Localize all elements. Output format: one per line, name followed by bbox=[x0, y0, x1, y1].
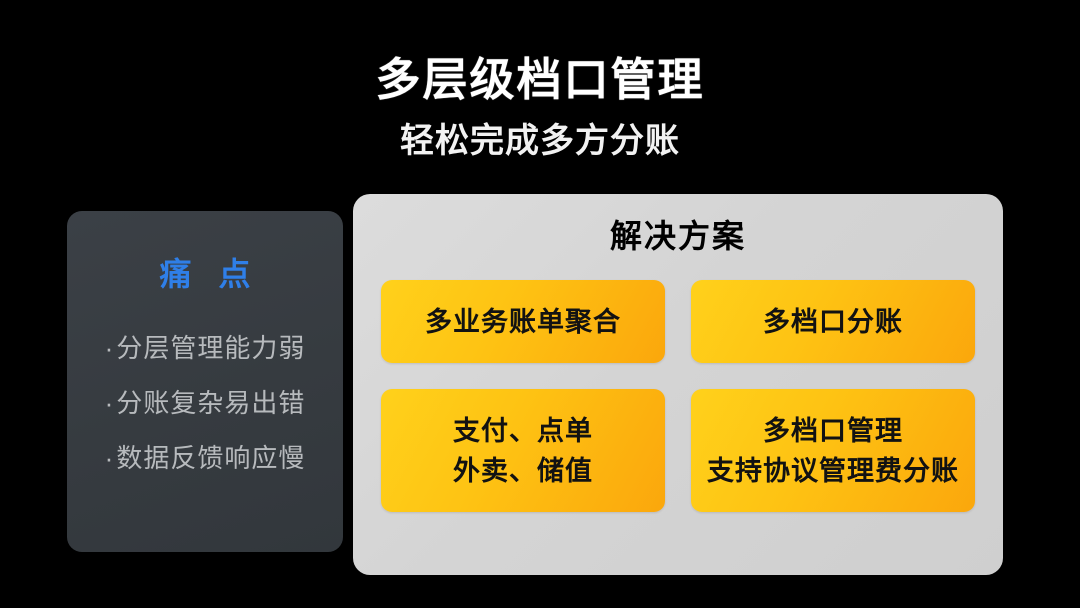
solution-card-label: 支付、点单 外卖、储值 bbox=[453, 411, 593, 491]
solution-card-multi-stall-split: 多档口分账 bbox=[691, 280, 975, 363]
pain-points-title: 痛 点 bbox=[77, 255, 333, 293]
list-item: ·数据反馈响应慢 bbox=[77, 443, 333, 473]
slide-header: 多层级档口管理 轻松完成多方分账 bbox=[0, 52, 1080, 162]
slide-root: 多层级档口管理 轻松完成多方分账 痛 点 ·分层管理能力弱 ·分账复杂易出错 ·… bbox=[0, 0, 1080, 608]
list-item-label: 分账复杂易出错 bbox=[116, 388, 305, 418]
list-item: ·分账复杂易出错 bbox=[77, 388, 333, 418]
solution-panel: 解决方案 多业务账单聚合 多档口分账 支付、点单 外卖、储值 多档口管理 支持协… bbox=[353, 194, 1003, 575]
solution-card-payment-ordering: 支付、点单 外卖、储值 bbox=[381, 389, 665, 512]
solution-card-stall-management: 多档口管理 支持协议管理费分账 bbox=[691, 389, 975, 512]
solution-card-bill-aggregation: 多业务账单聚合 bbox=[381, 280, 665, 363]
list-item-label: 数据反馈响应慢 bbox=[116, 443, 305, 473]
bullet-icon: · bbox=[105, 443, 115, 473]
solution-card-grid: 多业务账单聚合 多档口分账 支付、点单 外卖、储值 多档口管理 支持协议管理费分… bbox=[381, 280, 975, 512]
solution-card-label: 多档口分账 bbox=[763, 304, 903, 340]
page-subtitle: 轻松完成多方分账 bbox=[0, 120, 1080, 162]
solution-card-label: 多业务账单聚合 bbox=[425, 304, 621, 340]
page-title: 多层级档口管理 bbox=[0, 52, 1080, 108]
pain-points-panel: 痛 点 ·分层管理能力弱 ·分账复杂易出错 ·数据反馈响应慢 bbox=[67, 211, 343, 552]
bullet-icon: · bbox=[105, 333, 115, 363]
solution-card-label: 多档口管理 支持协议管理费分账 bbox=[707, 411, 959, 491]
solution-panel-title: 解决方案 bbox=[381, 216, 975, 256]
pain-points-list: ·分层管理能力弱 ·分账复杂易出错 ·数据反馈响应慢 bbox=[77, 333, 333, 473]
bullet-icon: · bbox=[105, 388, 115, 418]
list-item-label: 分层管理能力弱 bbox=[116, 333, 305, 363]
list-item: ·分层管理能力弱 bbox=[77, 333, 333, 363]
